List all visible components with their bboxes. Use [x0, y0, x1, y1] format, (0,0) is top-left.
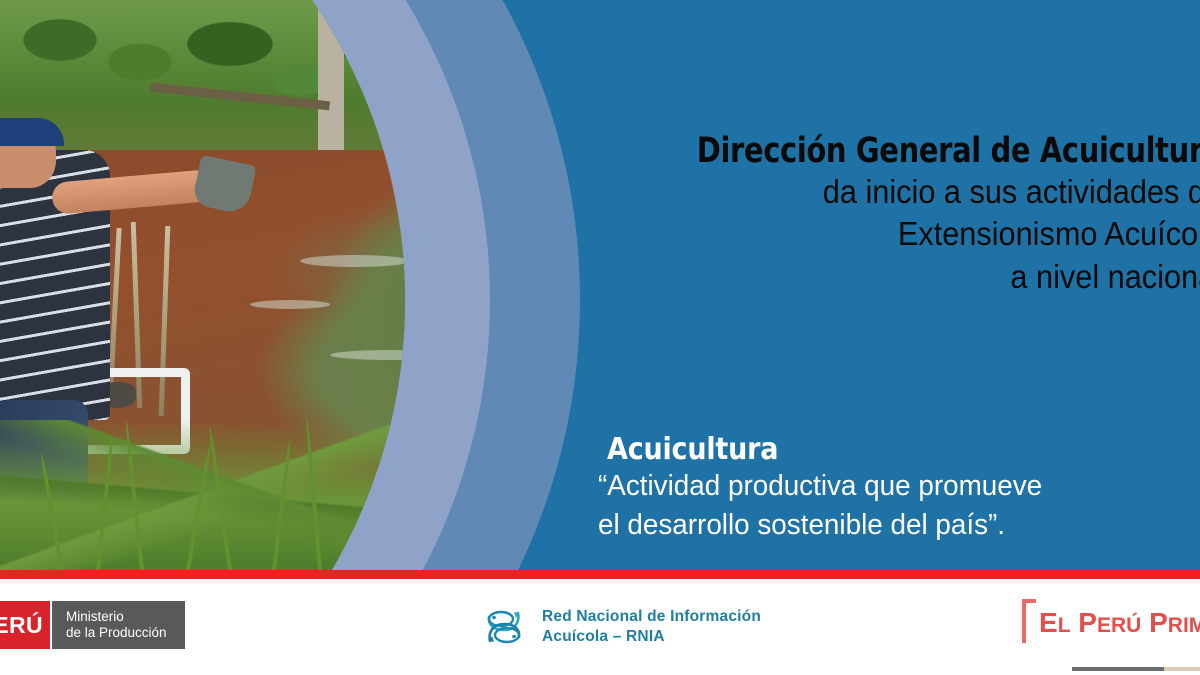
headline-line-2: da inicio a sus actividades de	[627, 171, 1200, 213]
bottom-tan-accent	[1164, 667, 1200, 671]
slogan-text: EL PERÚ PRIMERO	[1039, 609, 1200, 637]
footer-bar: PERÚ Ministerio de la Producción Red Nac…	[0, 579, 1200, 675]
slogan-eru: ERÚ	[1097, 614, 1141, 637]
slogan-p1: P	[1078, 607, 1097, 638]
peru-brand-block: PERÚ	[0, 601, 50, 649]
photo-ripple	[250, 300, 330, 309]
slogan-e: E	[1039, 607, 1058, 638]
el-peru-primero-logo: EL PERÚ PRIMERO	[1022, 605, 1200, 643]
slogan-p2: P	[1149, 607, 1168, 638]
aquaculture-photo	[0, 0, 405, 570]
rnia-wordmark: Red Nacional de Información Acuícola – R…	[542, 607, 761, 648]
banner-background: Dirección General de Acuicultura da inic…	[0, 0, 1200, 570]
bottom-gray-accent	[1072, 667, 1164, 671]
photo-circular-mask	[0, 0, 405, 570]
ministry-line-2: de la Producción	[66, 625, 185, 641]
slide-canvas: Dirección General de Acuicultura da inic…	[0, 0, 1200, 675]
red-divider	[0, 570, 1200, 579]
headline-line-1: Dirección General de Acuicultura	[633, 132, 1200, 171]
ministry-line-1: Ministerio	[66, 609, 185, 625]
quote-block: Acuicultura “Actividad productiva que pr…	[598, 432, 1158, 544]
headline-block: Dirección General de Acuicultura da inic…	[582, 132, 1200, 298]
two-fish-icon	[478, 601, 530, 653]
quote-title: Acuicultura	[607, 432, 1158, 467]
headline-line-3: Extensionismo Acuícola	[627, 213, 1200, 255]
photo-ripple	[300, 255, 405, 267]
quote-line-1: “Actividad productiva que promueve	[598, 467, 1136, 506]
slogan-rimero: RIMERO	[1168, 614, 1200, 637]
photo-palm-trunk	[318, 0, 344, 168]
quote-line-2: el desarrollo sostenible del país”.	[598, 506, 1136, 545]
rnia-logo: Red Nacional de Información Acuícola – R…	[478, 601, 761, 653]
headline-line-4: a nivel nacional	[627, 256, 1200, 298]
slogan-l: L	[1058, 614, 1071, 637]
rnia-line-1: Red Nacional de Información	[542, 607, 761, 627]
rnia-line-2: Acuícola – RNIA	[542, 627, 761, 647]
bracket-icon	[1022, 599, 1036, 643]
ministry-of-production-logo: PERÚ Ministerio de la Producción	[0, 601, 185, 649]
peru-label: PERÚ	[0, 612, 43, 639]
ministry-name-block: Ministerio de la Producción	[50, 601, 185, 649]
